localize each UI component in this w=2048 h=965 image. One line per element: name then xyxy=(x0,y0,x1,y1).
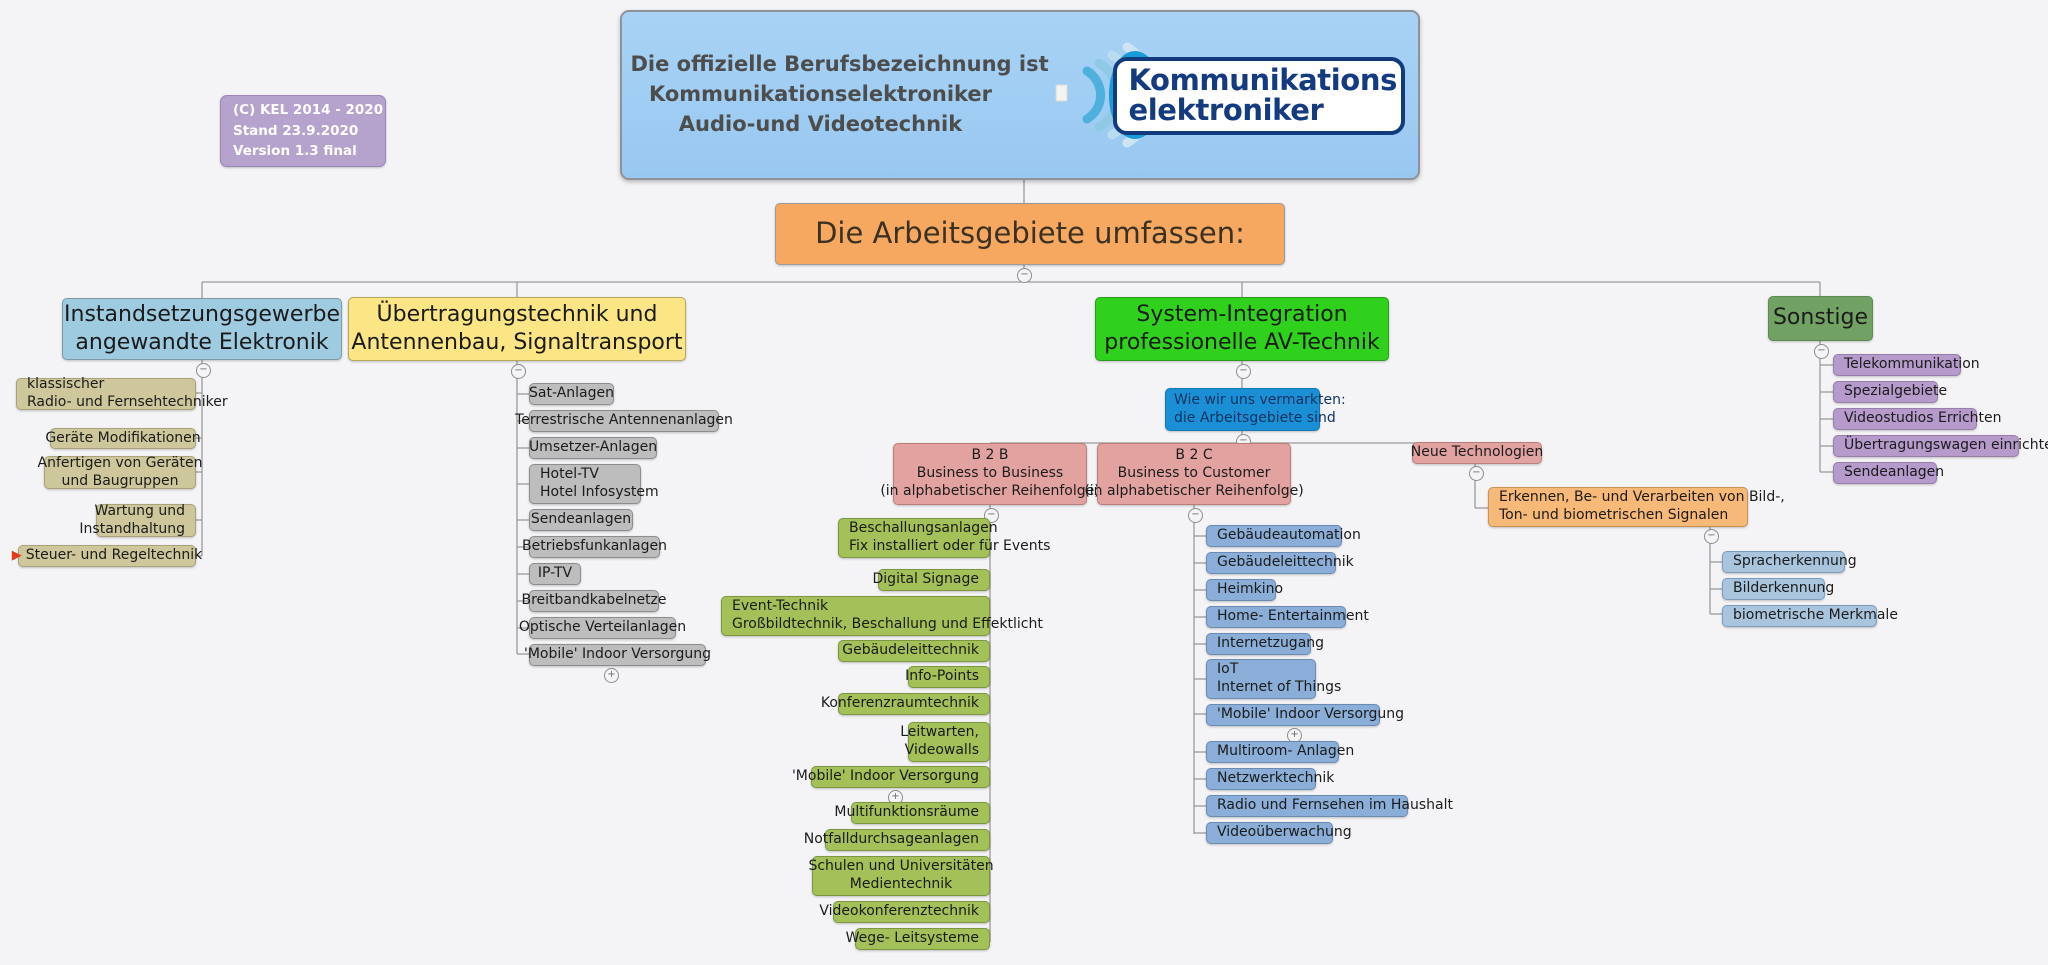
logo-line-2: elektroniker xyxy=(1129,96,1401,126)
mobile-indoor-expand-toggle[interactable]: + xyxy=(604,668,619,683)
branch-uebertragungstechnik[interactable]: Übertragungstechnik und Antennenbau, Sig… xyxy=(348,297,686,361)
branch-uebertragungstechnik-line-2: Antennenbau, Signaltransport xyxy=(351,329,682,357)
list-item[interactable]: Videokonferenztechnik xyxy=(833,901,990,923)
root-heading-line-2: Kommunikationselektroniker xyxy=(631,80,1011,110)
root-heading: Die offizielle Berufsbezeichnung ist Kom… xyxy=(631,50,1011,139)
list-item[interactable]: Sat-Anlagen xyxy=(529,383,614,405)
kommunikationselektroniker-logo: Kommunikations elektroniker xyxy=(1015,25,1410,165)
logo-text-plate: Kommunikations elektroniker xyxy=(1113,57,1405,135)
list-item[interactable]: ▶ Steuer- und Regeltechnik xyxy=(18,545,196,567)
b2b-node[interactable]: B 2 B Business to Business (in alphabeti… xyxy=(893,443,1087,505)
b2c-line-2: Business to Customer xyxy=(1118,465,1271,483)
list-item[interactable]: Internetzugang xyxy=(1206,633,1311,655)
list-item[interactable]: IoT Internet of Things xyxy=(1206,659,1316,699)
marketing-line-2: die Arbeitsgebiete sind xyxy=(1174,410,1336,428)
b2c-line-1: B 2 C xyxy=(1175,447,1212,465)
branch-instandsetzungsgewerbe-line-1: Instandsetzungsgewerbe xyxy=(64,301,340,329)
list-item[interactable]: 'Mobile' Indoor Versorgung xyxy=(1206,704,1380,726)
list-item[interactable]: klassischer Radio- und Fernsehtechniker xyxy=(16,378,196,410)
b2b-line-1: B 2 B xyxy=(971,447,1008,465)
copyright-line-1: (C) KEL 2014 - 2020 xyxy=(233,100,385,121)
list-item[interactable]: Konferenzraumtechnik xyxy=(838,693,990,715)
central-collapse-toggle[interactable]: − xyxy=(1017,268,1032,283)
branch-sonstige-label: Sonstige xyxy=(1773,304,1868,332)
list-item[interactable]: Sendeanlagen xyxy=(529,509,633,531)
list-item[interactable]: Spezialgebiete xyxy=(1833,381,1938,403)
marketing-line-1: Wie wir uns vermarkten: xyxy=(1174,392,1346,410)
list-item[interactable]: Hotel-TV Hotel Infosystem xyxy=(529,464,641,504)
list-item[interactable]: Wege- Leitsysteme xyxy=(855,928,990,950)
neue-technologien-detail-line-1: Erkennen, Be- und Verarbeiten von Bild-, xyxy=(1499,489,1785,507)
system-collapse-toggle[interactable]: − xyxy=(1236,364,1251,379)
list-item[interactable]: Notfalldurchsageanlagen xyxy=(825,829,990,851)
list-item[interactable]: Optische Verteilanlagen xyxy=(529,617,676,639)
list-item[interactable]: Netzwerktechnik xyxy=(1206,768,1316,790)
list-item[interactable]: Beschallungsanlagen Fix installiert oder… xyxy=(838,518,990,558)
list-item[interactable]: Home- Entertainment xyxy=(1206,606,1346,628)
list-item[interactable]: Multifunktionsräume xyxy=(851,802,990,824)
list-item[interactable]: Betriebsfunkanlagen xyxy=(529,536,660,558)
copyright-line-2: Stand 23.9.2020 xyxy=(233,121,385,142)
b2c-collapse-toggle[interactable]: − xyxy=(1188,508,1203,523)
b2b-line-2: Business to Business xyxy=(917,465,1063,483)
b2c-line-3: (in alphabetischer Reihenfolge) xyxy=(1084,483,1303,501)
list-item[interactable]: Übertragungswagen einrichten xyxy=(1833,435,2019,457)
central-topic-label: Die Arbeitsgebiete umfassen: xyxy=(815,215,1245,252)
branch-system-integration[interactable]: System-Integration professionelle AV-Tec… xyxy=(1095,297,1389,361)
marketing-node[interactable]: Wie wir uns vermarkten: die Arbeitsgebie… xyxy=(1165,388,1320,431)
list-item[interactable]: Gebäudeleittechnik xyxy=(838,640,990,662)
list-item[interactable]: Radio und Fernsehen im Haushalt xyxy=(1206,795,1408,817)
list-item[interactable]: Event-Technik Großbildtechnik, Beschallu… xyxy=(721,596,990,636)
list-item[interactable]: Anfertigen von Geräten und Baugruppen xyxy=(44,456,196,489)
list-item[interactable]: Umsetzer-Anlagen xyxy=(529,437,657,459)
branch-uebertragungstechnik-line-1: Übertragungstechnik und xyxy=(377,301,658,329)
list-item[interactable]: Info-Points xyxy=(908,666,990,688)
list-item[interactable]: Digital Signage xyxy=(878,569,990,591)
branch-system-integration-line-1: System-Integration xyxy=(1136,301,1347,329)
neue-technologien-detail-collapse-toggle[interactable]: − xyxy=(1704,529,1719,544)
branch-instandsetzungsgewerbe-line-2: angewandte Elektronik xyxy=(75,329,328,357)
neue-technologien-label: Neue Technologien xyxy=(1411,444,1544,462)
list-item[interactable]: biometrische Merkmale xyxy=(1722,605,1877,627)
mindmap-canvas: Die offizielle Berufsbezeichnung ist Kom… xyxy=(0,0,2048,965)
b2b-line-3: (in alphabetischer Reihenfolge) xyxy=(880,483,1099,501)
list-item[interactable]: IP-TV xyxy=(529,563,581,585)
list-item[interactable]: Sendeanlagen xyxy=(1833,462,1937,484)
neue-technologien-detail[interactable]: Erkennen, Be- und Verarbeiten von Bild-,… xyxy=(1488,487,1748,527)
list-item[interactable]: Videoüberwachung xyxy=(1206,822,1333,844)
neue-technologien-node[interactable]: Neue Technologien xyxy=(1412,442,1542,464)
instandsetzung-collapse-toggle[interactable]: − xyxy=(196,363,211,378)
list-item[interactable]: Leitwarten, Videowalls xyxy=(908,722,990,762)
copyright-line-3: Version 1.3 final xyxy=(233,141,385,162)
list-item[interactable]: Multiroom- Anlagen xyxy=(1206,741,1339,763)
list-item[interactable]: Videostudios Errichten xyxy=(1833,408,1977,430)
sonstige-collapse-toggle[interactable]: − xyxy=(1814,344,1829,359)
list-item[interactable]: 'Mobile' Indoor Versorgung xyxy=(811,766,990,788)
flag-icon: ▶ xyxy=(12,548,22,565)
root-heading-line-3: Audio-und Videotechnik xyxy=(631,110,1011,140)
list-item[interactable]: Heimkino xyxy=(1206,579,1276,601)
list-item[interactable]: Terrestrische Antennenanlagen xyxy=(529,410,719,432)
list-item[interactable]: Geräte Modifikationen xyxy=(50,428,196,449)
branch-instandsetzungsgewerbe[interactable]: Instandsetzungsgewerbe angewandte Elektr… xyxy=(62,298,342,360)
root-heading-line-1: Die offizielle Berufsbezeichnung ist xyxy=(631,50,1011,80)
list-item[interactable]: Breitbandkabelnetze xyxy=(529,590,659,612)
root-node[interactable]: Die offizielle Berufsbezeichnung ist Kom… xyxy=(620,10,1420,180)
copyright-box: (C) KEL 2014 - 2020 Stand 23.9.2020 Vers… xyxy=(220,95,386,167)
neue-technologien-detail-line-2: Ton- und biometrischen Signalen xyxy=(1499,507,1728,525)
list-item[interactable]: Gebäudeleittechnik xyxy=(1206,552,1336,574)
central-topic[interactable]: Die Arbeitsgebiete umfassen: xyxy=(775,203,1285,265)
uebertragung-collapse-toggle[interactable]: − xyxy=(511,364,526,379)
branch-system-integration-line-2: professionelle AV-Technik xyxy=(1104,329,1379,357)
list-item[interactable]: 'Mobile' Indoor Versorgung xyxy=(529,644,706,666)
logo-line-1: Kommunikations xyxy=(1129,66,1401,96)
list-item[interactable]: Gebäudeautomation xyxy=(1206,525,1342,547)
list-item[interactable]: Wartung und Instandhaltung xyxy=(96,504,196,537)
branch-sonstige[interactable]: Sonstige xyxy=(1768,296,1873,341)
list-item[interactable]: Telekommunikation xyxy=(1833,354,1961,376)
neue-technologien-collapse-toggle[interactable]: − xyxy=(1469,466,1484,481)
b2c-node[interactable]: B 2 C Business to Customer (in alphabeti… xyxy=(1097,443,1291,505)
list-item[interactable]: Spracherkennung xyxy=(1722,551,1845,573)
list-item[interactable]: Schulen und Universitäten Medientechnik xyxy=(812,856,990,896)
list-item[interactable]: Bilderkennung xyxy=(1722,578,1825,600)
